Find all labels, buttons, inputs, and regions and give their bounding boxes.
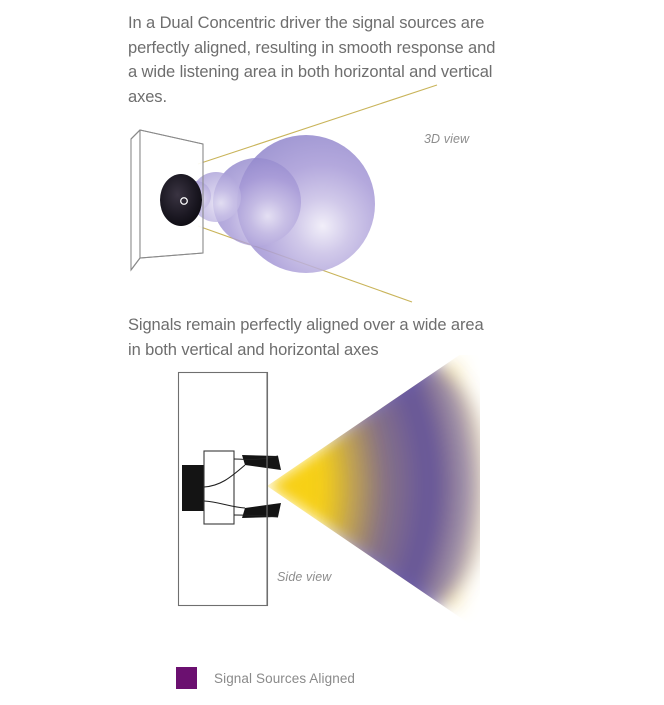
legend-label-signal-sources-aligned: Signal Sources Aligned [214,671,355,686]
driver-magnet [182,465,204,511]
three-d-view-diagram [0,60,664,320]
side-view-label: Side view [277,570,331,584]
three-d-view-label: 3D view [424,132,469,146]
legend-swatch-signal-sources-aligned [176,667,197,689]
infographic-canvas: In a Dual Concentric driver the signal s… [0,0,664,705]
dual-concentric-driver [160,174,202,226]
wavefront-spheres [181,135,375,273]
side-view-diagram [150,355,510,625]
driver-chassis [204,451,234,524]
legend: Signal Sources Aligned [176,667,355,689]
